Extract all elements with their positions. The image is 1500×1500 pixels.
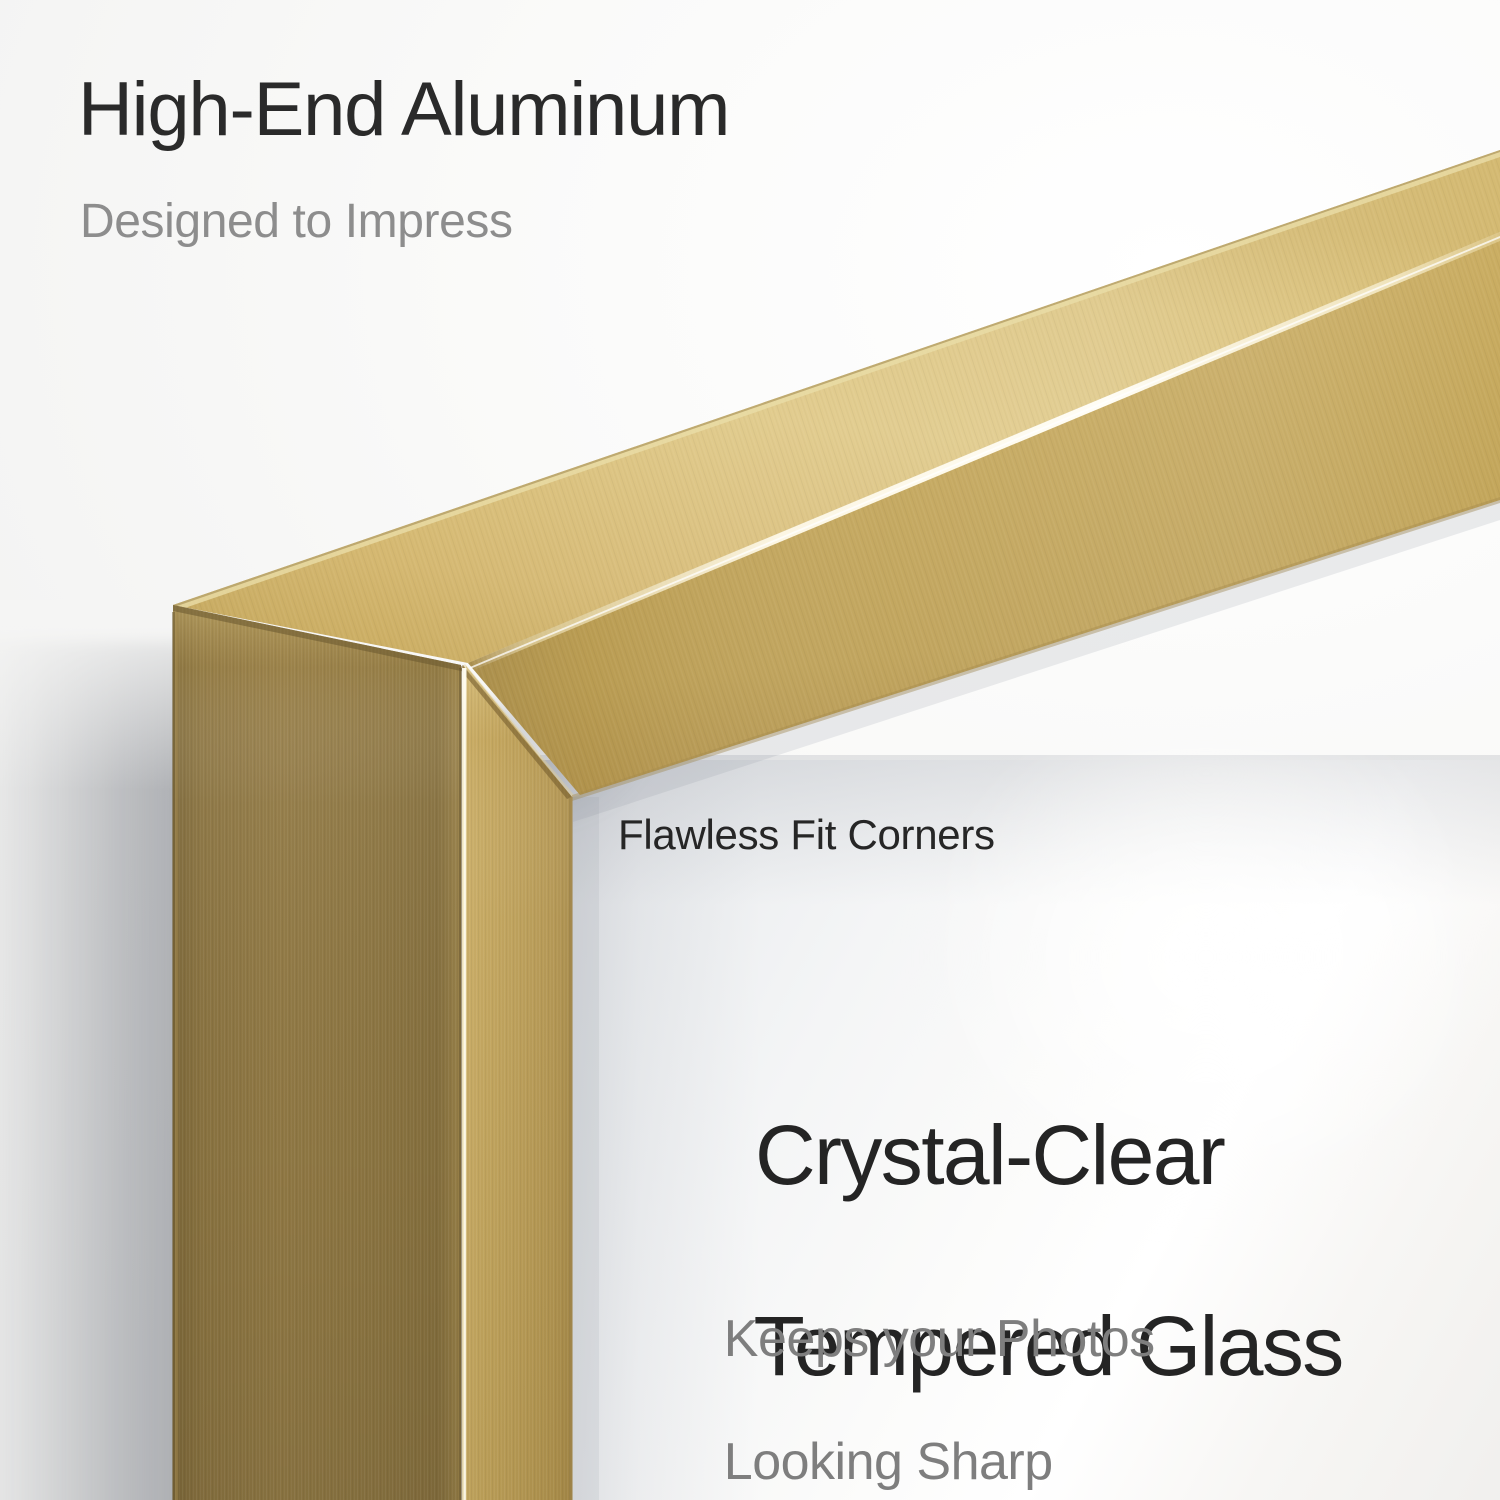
callout-glass-line-1: Crystal-Clear	[755, 1108, 1224, 1202]
callout-glass-sub-line-1: Keeps your Photos	[724, 1310, 1155, 1368]
callout-tempered-glass-subtext: Keeps your Photos Looking Sharp	[668, 1248, 1155, 1500]
left-rail-specular-seam	[459, 668, 467, 1500]
frame-left-rail-outer-face	[168, 600, 468, 1500]
page-title: High-End Aluminum	[78, 70, 729, 150]
callout-glass-sub-line-2: Looking Sharp	[724, 1433, 1053, 1491]
page-subtitle: Designed to Impress	[80, 196, 513, 249]
product-marketing-image: High-End Aluminum Designed to Impress Fl…	[0, 0, 1500, 1500]
callout-flawless-fit-corners: Flawless Fit Corners	[618, 812, 995, 858]
